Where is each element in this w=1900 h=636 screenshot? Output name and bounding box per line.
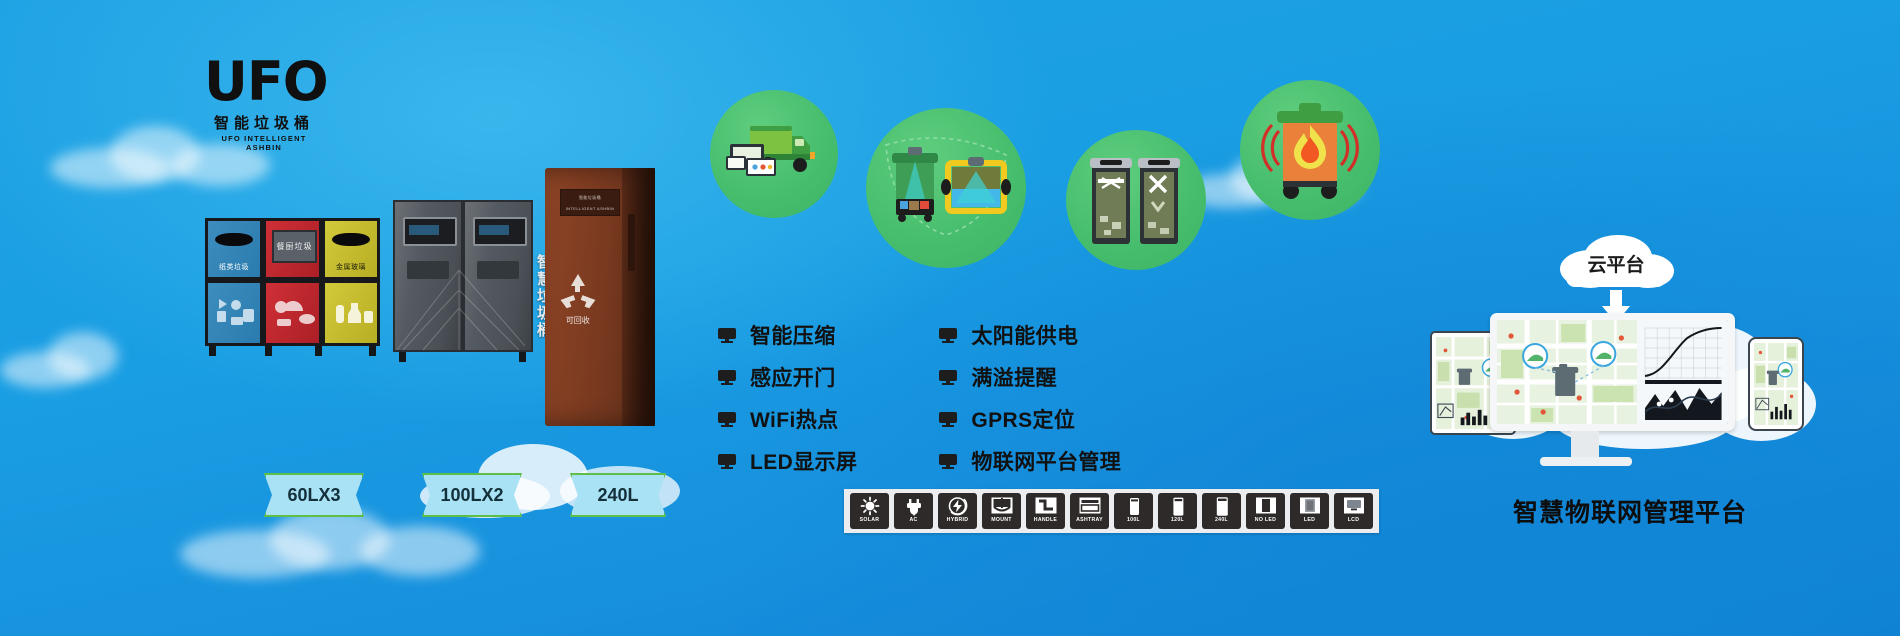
feature-label: WiFi热点 [750, 404, 839, 434]
option-chip-120l[interactable]: 120L [1158, 493, 1197, 529]
option-chip-lcd[interactable]: LCD [1334, 493, 1373, 529]
bin-compartment-paper-bottom [205, 280, 263, 346]
bin-compartment-label: 金属玻璃 [325, 262, 377, 272]
option-chip-hybrid[interactable]: HYBRID [938, 493, 977, 529]
monitor-bullet-icon [939, 328, 957, 343]
option-chip-mount[interactable]: MOUNT [982, 493, 1021, 529]
city-map-with-bin-markers [1497, 320, 1637, 424]
feature-item: 满溢提醒 [939, 362, 1121, 392]
monitor-bullet-icon [939, 454, 957, 469]
feature-list: 智能压缩 感应开门 WiFi热点 LED显示屏 太阳能供电 满溢提醒 GPRS定… [718, 320, 1121, 476]
feature-label: LED显示屏 [750, 446, 857, 476]
brown-bin-recycle-label: 可回收 [554, 315, 602, 326]
option-chip-handle[interactable]: HANDLE [1026, 493, 1065, 529]
capacity-banner-60lx3[interactable]: 60LX3 [264, 473, 364, 517]
duo-bin-left-half [393, 200, 463, 352]
option-caption: LCD [1348, 517, 1360, 523]
bin-120l-icon [1163, 495, 1193, 516]
monitor-bullet-icon [718, 370, 736, 385]
option-caption: ASHTRAY [1076, 517, 1103, 523]
brown-bin-top-panel: 智能垃圾桶 INTELLIGENT ASHBIN [560, 189, 619, 217]
city-map-with-bin-markers [1754, 343, 1798, 425]
cloud-platform-tag: 云平台 [1552, 235, 1680, 289]
brand-logo: UFO 智能垃圾桶 UFO INTE [204, 56, 324, 148]
bin-compartment-label: 纸类垃圾 [208, 262, 260, 272]
brown-bin-panel-subtext: INTELLIGENT ASHBIN [561, 206, 618, 211]
monitor-bullet-icon [939, 370, 957, 385]
food-waste-illustration-icon [271, 293, 319, 333]
option-chip-solar[interactable]: SOLAR [850, 493, 889, 529]
lcd-screen-icon [1339, 495, 1369, 516]
power-plug-icon [899, 495, 929, 516]
cloud-decoration-far-left [0, 330, 160, 390]
brown-bin-panel-text: 智能垃圾桶 [561, 195, 618, 201]
led-panel-icon [1295, 495, 1325, 516]
capacity-banner-240l[interactable]: 240L [570, 473, 666, 517]
sun-icon [855, 495, 885, 516]
feature-label: GPRS定位 [971, 404, 1075, 434]
platform-title: 智慧物联网管理平台 [1430, 493, 1830, 529]
option-caption: 120L [1171, 517, 1184, 523]
product-tri-bin: 纸类垃圾 餐厨垃圾 金属玻璃 [205, 218, 380, 346]
cloud-platform-label: 云平台 [1552, 250, 1680, 277]
option-caption: HANDLE [1034, 517, 1057, 523]
iot-platform-illustration: 云平台 [1430, 235, 1830, 485]
product-brown-bin: 智能垃圾桶 INTELLIGENT ASHBIN 可回收 [545, 168, 655, 426]
feature-label: 感应开门 [750, 362, 836, 392]
feature-column-1: 智能压缩 感应开门 WiFi热点 LED显示屏 [718, 320, 857, 476]
logo-chinese-name: 智能垃圾桶 [204, 116, 324, 132]
bin-100l-icon [1119, 495, 1149, 516]
logo-english-name: UFO INTELLIGENT ASHBIN [204, 134, 324, 152]
wall-mount-icon [987, 495, 1017, 516]
feature-label: 太阳能供电 [971, 320, 1078, 350]
option-caption: NO LED [1255, 517, 1276, 523]
recycle-symbol-icon [554, 269, 602, 317]
poster-canvas: UFO 智能垃圾桶 UFO INTE [0, 0, 1900, 636]
option-caption: AC [909, 517, 917, 523]
map-panel [1497, 320, 1637, 424]
ashtray-icon [1075, 495, 1105, 516]
bin-compartment-kitchen-bottom [263, 280, 322, 346]
feature-item: 智能压缩 [718, 320, 857, 350]
feature-item: 感应开门 [718, 362, 857, 392]
bin-sensor-and-overflow-icon [866, 108, 1026, 268]
feature-item: WiFi热点 [718, 404, 857, 434]
brown-bin-body: 智能垃圾桶 INTELLIGENT ASHBIN 可回收 [545, 168, 655, 426]
option-caption: MOUNT [991, 517, 1012, 523]
feature-item: GPRS定位 [939, 404, 1121, 434]
no-led-icon [1251, 495, 1281, 516]
feature-circle-fire-alarm[interactable] [1240, 80, 1380, 220]
brown-bin-shadow-side [622, 168, 655, 426]
feature-item: 太阳能供电 [939, 320, 1121, 350]
twin-compactor-bins-icon [1066, 130, 1206, 270]
feature-label: 满溢提醒 [971, 362, 1057, 392]
bin-slot-icon [215, 233, 252, 245]
option-caption: 100L [1127, 517, 1140, 523]
feature-item: LED显示屏 [718, 446, 857, 476]
hybrid-power-icon [943, 495, 973, 516]
monitor-stand [1571, 431, 1599, 459]
garbage-truck-and-devices-icon [710, 90, 838, 218]
bin-compartment-kitchen-top: 餐厨垃圾 [263, 218, 322, 280]
option-caption: HYBRID [947, 517, 969, 523]
monitor-bullet-icon [939, 412, 957, 427]
bin-240l-icon [1207, 495, 1237, 516]
monitor-bullet-icon [718, 412, 736, 427]
monitor-bullet-icon [718, 454, 736, 469]
bin-legs [205, 346, 380, 356]
brown-bin-sensor-strip [628, 214, 636, 271]
option-chip-100l[interactable]: 100L [1114, 493, 1153, 529]
smartphone-device[interactable] [1748, 337, 1804, 431]
capacity-banner-100lx2[interactable]: 100LX2 [422, 473, 522, 517]
logo-wordmark-row: UFO [204, 56, 324, 114]
feature-circle-fill-level[interactable] [866, 108, 1026, 268]
feature-circle-compaction[interactable] [1066, 130, 1206, 270]
bin-slot-icon [332, 233, 369, 245]
option-icon-strip: SOLAR AC HYBRID MOUNT HANDLE [844, 489, 1379, 533]
duo-bin-display-screen [473, 217, 527, 246]
monitor-bullet-icon [718, 328, 736, 343]
feature-item: 物联网平台管理 [939, 446, 1121, 476]
option-chip-ac[interactable]: AC [894, 493, 933, 529]
burning-bin-alarm-icon [1240, 80, 1380, 220]
feature-label: 物联网平台管理 [971, 446, 1121, 476]
option-chip-led[interactable]: LED [1290, 493, 1329, 529]
bin-compartment-metal-bottom [322, 280, 380, 346]
handle-icon [1031, 495, 1061, 516]
product-duo-bin: 智慧垃圾桶 [393, 200, 533, 352]
option-chip-ashtray[interactable]: ASHTRAY [1070, 493, 1109, 529]
bin-legs [393, 352, 533, 362]
recyclable-illustration-icon [213, 293, 259, 333]
monitor-base [1540, 457, 1632, 466]
logo-wordmark: UFO [204, 56, 328, 108]
phone-map-screen [1754, 343, 1798, 425]
chart-panel [1637, 320, 1728, 424]
analytics-charts [1637, 320, 1728, 424]
duo-bin-flap [477, 261, 519, 279]
duo-bin-flap [407, 261, 449, 279]
bin-compartment-metal-top: 金属玻璃 [322, 218, 380, 280]
bin-compartment-paper-top: 纸类垃圾 [205, 218, 263, 280]
bin-compartment-label: 餐厨垃圾 [272, 230, 316, 263]
option-caption: 240L [1215, 517, 1228, 523]
option-caption: LED [1304, 517, 1315, 523]
feature-circle-fleet-dispatch[interactable] [710, 90, 838, 218]
monitor-screen [1497, 320, 1728, 424]
feature-label: 智能压缩 [750, 320, 836, 350]
option-chip-240l[interactable]: 240L [1202, 493, 1241, 529]
duo-bin-right-half [463, 200, 533, 352]
option-caption: SOLAR [860, 517, 880, 523]
option-chip-no-led[interactable]: NO LED [1246, 493, 1285, 529]
duo-bin-display-screen [403, 217, 457, 246]
feature-column-2: 太阳能供电 满溢提醒 GPRS定位 物联网平台管理 [939, 320, 1121, 476]
metal-glass-illustration-icon [331, 293, 377, 333]
desktop-monitor-device[interactable] [1490, 313, 1735, 431]
